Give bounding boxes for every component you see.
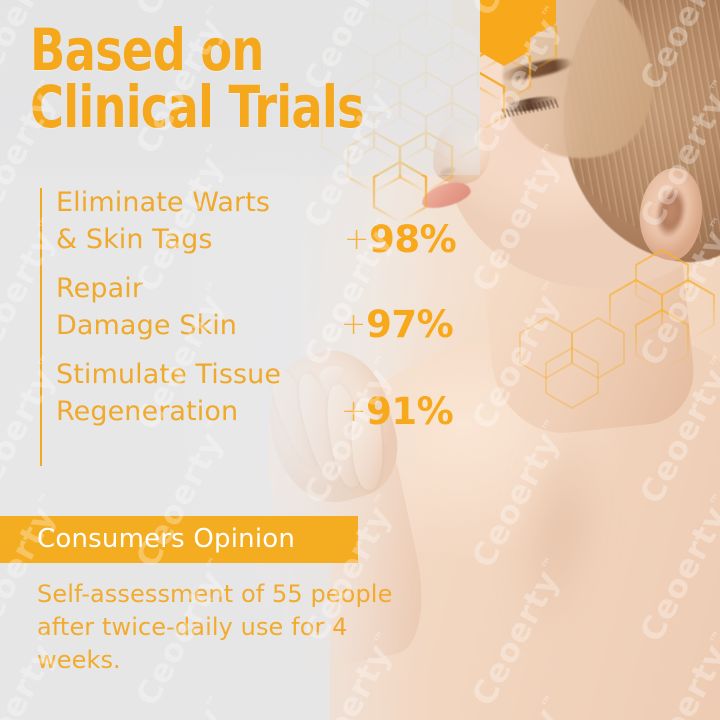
plus-sign: + xyxy=(344,222,369,257)
feature-item: Eliminate Warts & Skin Tags +98% xyxy=(56,184,456,258)
promo-poster: Based on Clinical Trials Eliminate Warts… xyxy=(0,0,720,720)
plus-sign: + xyxy=(341,394,366,429)
content-layer: Based on Clinical Trials Eliminate Warts… xyxy=(0,0,720,720)
feature-percent: 97% xyxy=(366,303,453,346)
feature-list-rule xyxy=(40,188,42,466)
feature-item: Stimulate Tissue Regeneration +91% xyxy=(56,356,456,430)
feature-list: Eliminate Warts & Skin Tags +98% Repair … xyxy=(56,184,456,442)
feature-item: Repair Damage Skin +97% xyxy=(56,270,456,344)
feature-percent: 98% xyxy=(369,218,456,261)
feature-stat: +97% xyxy=(341,303,453,346)
consumers-opinion-label: Consumers Opinion xyxy=(37,524,295,554)
headline-line-2: Clinical Trials xyxy=(30,79,374,136)
study-note: Self-assessment of 55 people after twice… xyxy=(37,578,437,677)
feature-percent: 91% xyxy=(366,390,453,433)
plus-sign: + xyxy=(341,307,366,342)
feature-stat: +91% xyxy=(341,390,453,433)
headline: Based on Clinical Trials xyxy=(30,22,374,136)
feature-stat: +98% xyxy=(344,218,456,261)
